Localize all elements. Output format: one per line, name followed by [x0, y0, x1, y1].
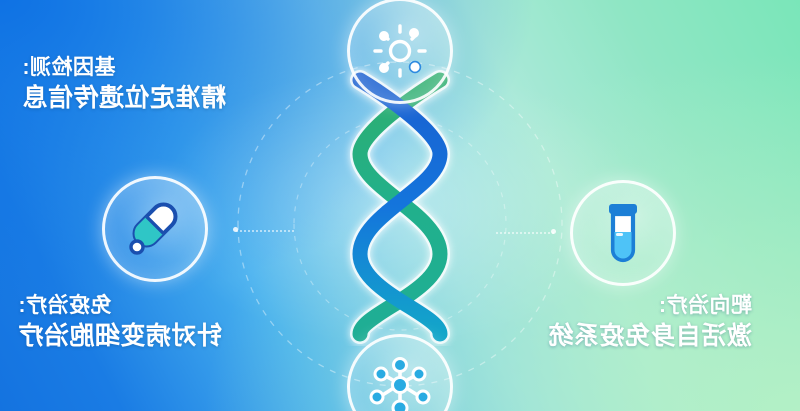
infographic-canvas: 基因检测: 精准定位遗传信息 靶向治疗: 激活自身免疫系统 免疫治疗: 针对病变…	[0, 0, 800, 411]
node-left[interactable]	[570, 180, 676, 286]
connector-dot-left	[551, 229, 556, 234]
molecule-radial-icon	[369, 20, 431, 82]
label-immunotherapy-desc: 针对病变细胞治疗	[18, 320, 222, 352]
label-targeted-therapy: 靶向治疗: 激活自身免疫系统	[548, 293, 752, 352]
label-immunotherapy-title: 免疫治疗:	[18, 293, 222, 320]
pill-capsule-icon	[123, 197, 187, 261]
connector-left	[496, 232, 554, 236]
connector-right	[236, 230, 294, 234]
molecular-network-icon	[367, 354, 433, 411]
label-targeted-therapy-title: 靶向治疗:	[548, 293, 752, 320]
node-top[interactable]	[347, 0, 453, 104]
label-gene-testing: 基因检测: 精准定位遗传信息	[22, 55, 226, 114]
test-tube-icon	[593, 200, 653, 266]
dna-double-helix-icon	[330, 66, 470, 346]
dna-helix	[330, 66, 470, 346]
connector-dot-right	[233, 227, 238, 232]
label-gene-testing-title: 基因检测:	[22, 55, 226, 82]
label-immunotherapy: 免疫治疗: 针对病变细胞治疗	[18, 293, 222, 352]
label-targeted-therapy-desc: 激活自身免疫系统	[548, 320, 752, 352]
label-gene-testing-desc: 精准定位遗传信息	[22, 82, 226, 114]
node-right[interactable]	[102, 176, 208, 282]
